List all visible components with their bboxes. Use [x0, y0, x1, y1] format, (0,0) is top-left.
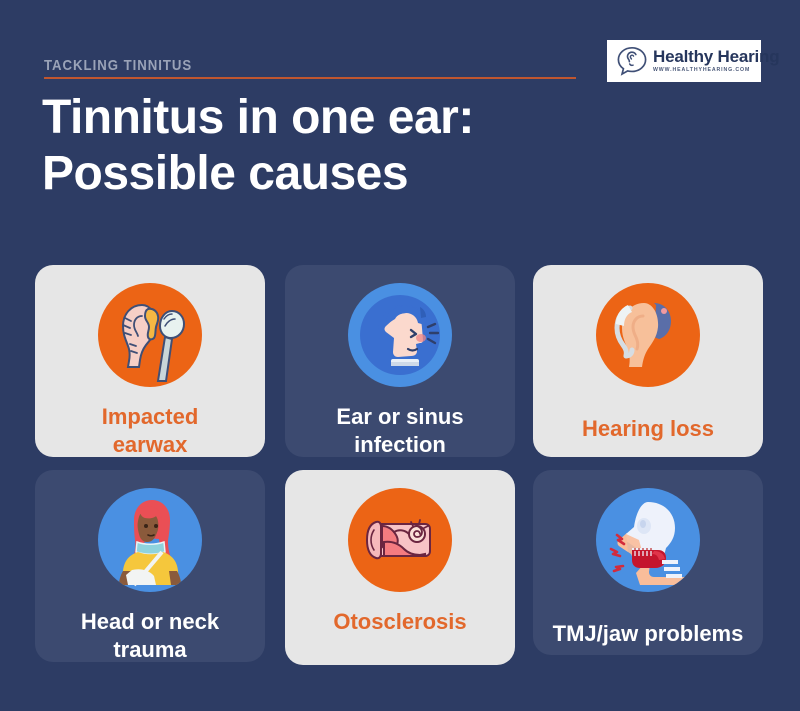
eyebrow-label: TACKLING TINNITUS	[44, 57, 192, 74]
header: TACKLING TINNITUS Tinnitus in one ear: P…	[0, 0, 800, 255]
cause-card-label: TMJ/jaw problems	[551, 620, 746, 648]
ear-with-hearing-aid-icon	[596, 283, 700, 387]
page-title: Tinnitus in one ear: Possible causes	[42, 90, 662, 202]
cause-card-label: Otosclerosis	[323, 608, 476, 636]
logo-text-wrap: Healthy Hearing WWW.HEALTHYHEARING.COM	[653, 48, 779, 74]
logo-url: WWW.HEALTHYHEARING.COM	[653, 66, 779, 74]
cause-card-ear-or-sinus-infection[interactable]: Ear or sinus infection	[285, 265, 515, 457]
cause-card-label: Head or neck trauma	[71, 608, 229, 664]
ear-with-cotton-swab-icon	[98, 283, 202, 387]
logo-name: Healthy Hearing	[653, 48, 779, 66]
cause-card-label: Impacted earwax	[92, 403, 209, 459]
cause-card-hearing-loss[interactable]: Hearing loss	[533, 265, 763, 457]
cause-card-tmj-jaw-problems[interactable]: TMJ/jaw problems	[533, 470, 763, 655]
cause-card-label: Ear or sinus infection	[326, 403, 473, 459]
cause-card-head-or-neck-trauma[interactable]: Head or neck trauma	[35, 470, 265, 662]
healthy-hearing-logo[interactable]: Healthy Hearing WWW.HEALTHYHEARING.COM	[605, 38, 763, 84]
cause-card-label: Hearing loss	[572, 415, 724, 443]
person-neck-brace-arm-sling-icon	[98, 488, 202, 592]
eyebrow-row: TACKLING TINNITUS	[44, 57, 576, 79]
ear-in-speech-bubble-icon	[615, 44, 649, 78]
skull-jaw-pain-icon	[596, 488, 700, 592]
inner-ear-cochlea-icon	[348, 488, 452, 592]
causes-card-grid: Impacted earwax	[0, 265, 800, 665]
cause-card-impacted-earwax[interactable]: Impacted earwax	[35, 265, 265, 457]
eyebrow-divider	[44, 77, 576, 79]
sneezing-head-profile-icon	[348, 283, 452, 387]
cause-card-otosclerosis[interactable]: Otosclerosis	[285, 470, 515, 665]
